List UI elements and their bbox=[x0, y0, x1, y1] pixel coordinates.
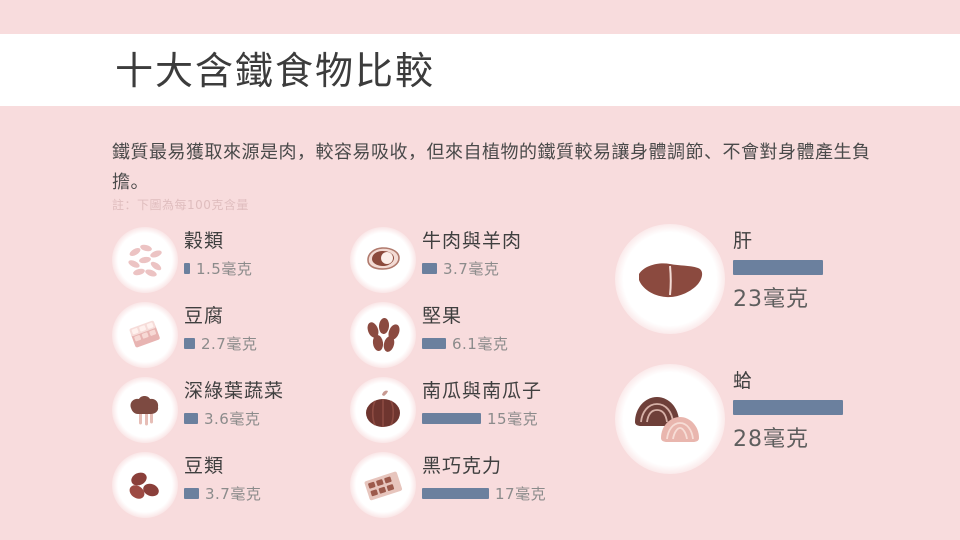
beans-icon bbox=[112, 452, 178, 518]
value-amount: 3.7毫克 bbox=[443, 258, 499, 279]
food-meter: 6.1毫克 bbox=[422, 333, 508, 354]
food-item-text: 穀類 1.5毫克 bbox=[184, 228, 252, 279]
food-meter bbox=[733, 400, 843, 415]
liver-icon bbox=[615, 224, 725, 334]
food-item-beef-lamb: 牛肉與羊肉 3.7毫克 bbox=[350, 224, 615, 299]
food-item-liver: 肝 23毫克 bbox=[615, 224, 915, 364]
food-item-legumes: 豆類 3.7毫克 bbox=[112, 449, 352, 524]
food-item-text: 蛤 28毫克 bbox=[733, 368, 843, 453]
food-name: 肝 bbox=[733, 228, 823, 254]
value-bar bbox=[184, 338, 195, 349]
food-item-text: 豆類 3.7毫克 bbox=[184, 453, 261, 504]
food-item-text: 堅果 6.1毫克 bbox=[422, 303, 508, 354]
food-meter: 3.6毫克 bbox=[184, 408, 284, 429]
nuts-icon bbox=[350, 302, 416, 368]
value-amount: 23毫克 bbox=[733, 281, 823, 313]
food-meter: 15毫克 bbox=[422, 408, 542, 429]
tofu-icon bbox=[112, 302, 178, 368]
food-name: 堅果 bbox=[422, 303, 508, 329]
value-amount: 1.5毫克 bbox=[196, 258, 252, 279]
food-name: 穀類 bbox=[184, 228, 252, 254]
food-item-pumpkin-seeds: 南瓜與南瓜子 15毫克 bbox=[350, 374, 615, 449]
steak-icon bbox=[350, 227, 416, 293]
food-column-right: 肝 23毫克 蛤 28毫克 bbox=[615, 224, 915, 504]
value-bar bbox=[184, 488, 199, 499]
food-item-nuts: 堅果 6.1毫克 bbox=[350, 299, 615, 374]
food-column-middle: 牛肉與羊肉 3.7毫克 bbox=[350, 224, 615, 524]
value-bar bbox=[184, 413, 198, 424]
food-name: 深綠葉蔬菜 bbox=[184, 378, 284, 404]
food-item-text: 深綠葉蔬菜 3.6毫克 bbox=[184, 378, 284, 429]
food-item-dark-chocolate: 黑巧克力 17毫克 bbox=[350, 449, 615, 524]
food-column-left: 穀類 1.5毫克 bbox=[112, 224, 352, 524]
food-item-text: 肝 23毫克 bbox=[733, 228, 823, 313]
value-amount: 6.1毫克 bbox=[452, 333, 508, 354]
broccoli-icon bbox=[112, 377, 178, 443]
chocolate-icon bbox=[350, 452, 416, 518]
food-item-tofu: 豆腐 2.7毫克 bbox=[112, 299, 352, 374]
intro-note: 註：下圖為每100克含量 bbox=[112, 196, 249, 213]
food-name: 豆腐 bbox=[184, 303, 257, 329]
food-name: 南瓜與南瓜子 bbox=[422, 378, 542, 404]
value-amount: 28毫克 bbox=[733, 421, 843, 453]
value-bar bbox=[422, 488, 489, 499]
grains-icon bbox=[112, 227, 178, 293]
food-name: 豆類 bbox=[184, 453, 261, 479]
clam-icon bbox=[615, 364, 725, 474]
food-item-text: 豆腐 2.7毫克 bbox=[184, 303, 257, 354]
value-bar bbox=[733, 260, 823, 275]
food-meter: 17毫克 bbox=[422, 483, 546, 504]
food-item-grains: 穀類 1.5毫克 bbox=[112, 224, 352, 299]
food-item-text: 黑巧克力 17毫克 bbox=[422, 453, 546, 504]
value-bar bbox=[184, 263, 190, 274]
value-amount: 2.7毫克 bbox=[201, 333, 257, 354]
food-item-text: 南瓜與南瓜子 15毫克 bbox=[422, 378, 542, 429]
value-bar bbox=[422, 338, 446, 349]
value-bar bbox=[733, 400, 843, 415]
value-amount: 3.6毫克 bbox=[204, 408, 260, 429]
food-item-clam: 蛤 28毫克 bbox=[615, 364, 915, 504]
infographic-canvas: 十大含鐵食物比較 鐵質最易獲取來源是肉，較容易吸收，但來自植物的鐵質較易讓身體調… bbox=[0, 0, 960, 540]
food-name: 牛肉與羊肉 bbox=[422, 228, 522, 254]
value-bar bbox=[422, 413, 481, 424]
value-bar bbox=[422, 263, 437, 274]
value-amount: 17毫克 bbox=[495, 483, 546, 504]
food-item-text: 牛肉與羊肉 3.7毫克 bbox=[422, 228, 522, 279]
page-title: 十大含鐵食物比較 bbox=[115, 44, 435, 98]
intro-paragraph: 鐵質最易獲取來源是肉，較容易吸收，但來自植物的鐵質較易讓身體調節、不會對身體產生… bbox=[112, 138, 872, 198]
food-meter: 2.7毫克 bbox=[184, 333, 257, 354]
value-amount: 3.7毫克 bbox=[205, 483, 261, 504]
food-name: 蛤 bbox=[733, 368, 843, 394]
pumpkin-icon bbox=[350, 377, 416, 443]
food-name: 黑巧克力 bbox=[422, 453, 546, 479]
food-meter: 3.7毫克 bbox=[184, 483, 261, 504]
value-amount: 15毫克 bbox=[487, 408, 538, 429]
food-meter bbox=[733, 260, 823, 275]
food-meter: 3.7毫克 bbox=[422, 258, 522, 279]
food-meter: 1.5毫克 bbox=[184, 258, 252, 279]
food-item-dark-leafy-greens: 深綠葉蔬菜 3.6毫克 bbox=[112, 374, 352, 449]
